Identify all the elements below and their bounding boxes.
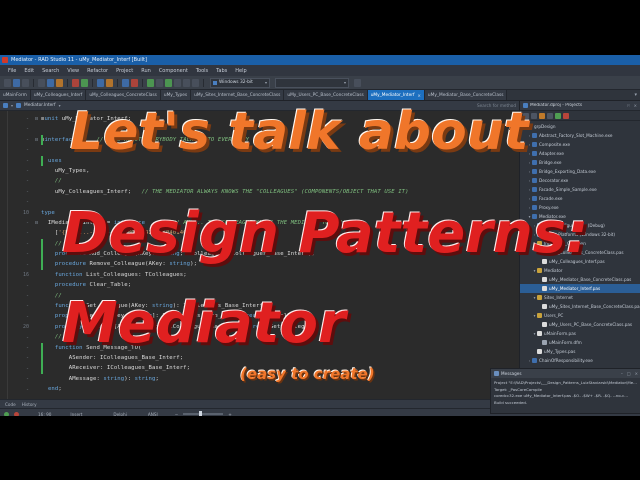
save-all-icon[interactable] (13, 79, 20, 87)
tree-node-label: uMy_Mediator_Base_ConcreteClass.pas (549, 277, 631, 282)
editor-tab-code[interactable]: Code (5, 402, 16, 407)
run-dropdown-icon[interactable] (156, 79, 163, 87)
projects-help-icon[interactable] (563, 113, 569, 119)
prj-icon (532, 178, 537, 183)
prj-icon (532, 358, 537, 363)
messages-panel: Messages – □ × Project "E:\RAD\Projects\… (490, 368, 640, 414)
projects-panel-title: Mediator.dproj - Projects (530, 103, 582, 108)
projects-toolbar (520, 111, 640, 121)
fold-marker[interactable] (32, 311, 41, 321)
tab-label: uMy_Colleagues_ConcreteClass (89, 93, 157, 98)
config-combo[interactable]: ▾ (275, 78, 349, 88)
prj-icon (532, 187, 537, 192)
projects-panel-buttons: ⚐ × (627, 103, 637, 108)
fold-marker[interactable] (32, 270, 41, 280)
tree-node[interactable]: ▾Users_PC (520, 311, 640, 320)
line-number: - (8, 260, 32, 270)
modified-line-marker (41, 135, 43, 145)
menu-bar: File Edit Search View Refactor Project R… (0, 65, 640, 76)
overlay-subtitle: (easy to create) (240, 367, 375, 382)
letterbox-top (0, 0, 640, 55)
line-number: - (8, 187, 32, 197)
modified-line-marker (41, 156, 43, 166)
tab-overflow-icon[interactable]: ▾ (631, 90, 640, 100)
close-icon-messages[interactable]: × (635, 371, 638, 376)
chevron-down-icon-2: ▾ (344, 80, 346, 85)
tree-node-label: uMy_Types.pas (544, 349, 575, 354)
line-number-gutter: ---------10-----16----20--------30- (8, 111, 32, 399)
stop-icon[interactable] (131, 79, 138, 87)
fold-marker[interactable] (32, 322, 41, 332)
tree-node[interactable]: uMy_Users_PC_Base_ConcreteClass.pas (520, 320, 640, 329)
tab-umy-types[interactable]: uMy_Types (161, 90, 191, 100)
close-all-icon[interactable] (72, 79, 79, 87)
line-number: - (8, 249, 32, 259)
menu-item-tools[interactable]: Tools (196, 68, 208, 74)
toolbar-separator-2 (67, 79, 68, 87)
fold-marker[interactable] (32, 197, 41, 207)
tree-node-label: Bridge.exe (539, 160, 561, 165)
tree-node-label: Adapter.exe (539, 151, 564, 156)
fld-icon (537, 295, 542, 300)
title-bar: Mediator - RAD Studio 11 - uMy_Mediator_… (0, 55, 640, 65)
line-number: - (8, 364, 32, 374)
code-line: procedure Clear_Table; (41, 280, 519, 290)
line-number: 20 (8, 322, 32, 332)
tree-node-label: uMy_Mediator_Interf.pas (549, 286, 600, 291)
editor-footer-tabs: Code History (0, 399, 519, 408)
code-line: end; (41, 384, 519, 394)
pas-icon (537, 349, 542, 354)
chevron-down-icon: ▾ (265, 80, 267, 85)
line-number: - (8, 197, 32, 207)
rad-studio-icon (2, 57, 8, 63)
tab-umy-colleagues-concreteclass[interactable]: uMy_Colleagues_ConcreteClass (86, 90, 161, 100)
line-number: - (8, 124, 32, 134)
letterbox-bottom (0, 416, 640, 480)
fold-marker[interactable] (32, 124, 41, 134)
menu-item-run[interactable]: Run (141, 68, 151, 74)
message-line: Build succeeded. (494, 400, 638, 407)
line-number: - (8, 176, 32, 186)
pas-icon (542, 304, 547, 309)
tab-umy-mediator-base-concreteclass[interactable]: uMy_Mediator_Base_ConcreteClass (425, 90, 508, 100)
activate-icon[interactable] (555, 113, 561, 119)
fld-icon (537, 313, 542, 318)
tree-node[interactable]: ›Bridge_Exporting_Data.exe (520, 167, 640, 176)
pas-icon (537, 331, 542, 336)
message-line: Project "E:\RAD\Projects\___Design_Patte… (494, 380, 638, 387)
editor-left-margin (0, 111, 8, 399)
tree-node-label: Decorator.exe (539, 178, 568, 183)
modified-line-marker (41, 239, 43, 270)
new-file-icon[interactable] (47, 79, 54, 87)
platform-icon (213, 81, 217, 85)
tree-node-label: Abstract_Factory_Slot_Machine.exe (539, 133, 612, 138)
fold-marker[interactable] (32, 187, 41, 197)
messages-panel-title: Messages (501, 371, 522, 376)
tab-label: uMy_Mediator_Interf (371, 93, 415, 98)
line-number: - (8, 312, 32, 322)
line-number: - (8, 228, 32, 238)
line-number: - (8, 135, 32, 145)
fold-marker[interactable] (32, 363, 41, 373)
menu-item-view[interactable]: View (67, 68, 79, 74)
tab-umy-mediator-interf[interactable]: uMy_Mediator_Interf × (368, 90, 425, 100)
line-number: - (8, 114, 32, 124)
fold-marker[interactable] (32, 395, 41, 399)
fld-icon (537, 268, 542, 273)
tree-node-label: uMy_Users_PC_Base_ConcreteClass.pas (549, 322, 632, 327)
tab-umy-users-pc[interactable]: uMy_Users_PC_Base_ConcreteClass (284, 90, 367, 100)
tree-node[interactable]: ›Abstract_Factory_Slot_Machine.exe (520, 131, 640, 140)
open-file-icon[interactable] (56, 79, 63, 87)
tree-node[interactable]: uMy_Mediator_Interf.pas (520, 284, 640, 293)
minimize-icon[interactable]: – (621, 371, 623, 376)
toolbar-separator-6 (203, 79, 204, 87)
overlay-title-line2: Design Patterns: (62, 206, 588, 262)
fold-marker[interactable] (32, 208, 41, 218)
undo-icon[interactable] (38, 79, 45, 87)
line-number: - (8, 395, 32, 399)
tree-node[interactable]: uMy_Mediator_Base_ConcreteClass.pas (520, 275, 640, 284)
tab-umainform[interactable]: uMainForm (0, 90, 31, 100)
fold-marker[interactable] (32, 239, 41, 249)
line-number: - (8, 385, 32, 395)
line-number: - (8, 218, 32, 228)
run-icon[interactable] (147, 79, 154, 87)
menu-item-search[interactable]: Search (42, 68, 59, 74)
line-number: - (8, 353, 32, 363)
message-line: coredcc32.exe uMy_Mediator_Interf.pas -$… (494, 393, 638, 400)
build-icon[interactable] (539, 113, 545, 119)
line-number: - (8, 145, 32, 155)
tree-node-label: Users_PC (544, 313, 563, 318)
line-number: - (8, 166, 32, 176)
fold-marker[interactable] (32, 301, 41, 311)
code-line: uMy_Colleagues_Interf; // THE MEDIATOR A… (41, 187, 519, 197)
remove-file-icon[interactable] (531, 113, 537, 119)
editor-tab-history[interactable]: History (22, 402, 37, 407)
overlay-title-line3: Mediator (62, 296, 346, 352)
line-number: - (8, 374, 32, 384)
fold-marker[interactable] (32, 176, 41, 186)
fold-marker[interactable] (32, 114, 41, 124)
tree-node[interactable]: ▾Mediator (520, 266, 640, 275)
code-line: // (41, 176, 519, 186)
fold-marker[interactable] (32, 145, 41, 155)
fold-marker[interactable] (32, 343, 41, 353)
tree-node-label: uMainForm.dfm (549, 340, 582, 345)
open-project-icon[interactable] (4, 79, 11, 87)
tree-node-label: uMy_Sites_Internet_Base_ConcreteClass.pa… (549, 304, 640, 309)
tree-node-label: ChainOfResponsibility.exe (539, 358, 593, 363)
chevron-down-icon-3[interactable]: ▾ (11, 103, 13, 108)
tab-umy-colleagues-interf[interactable]: uMy_Colleagues_Interf (31, 90, 87, 100)
toolbar-separator-3 (92, 79, 93, 87)
code-line: uMy_Types, (41, 166, 519, 176)
chevron-down-icon-4[interactable]: ▾ (59, 103, 61, 108)
main-toolbar: Windows 32-bit ▾ ▾ (0, 76, 640, 90)
menu-item-file[interactable]: File (8, 68, 16, 74)
run-without-debug-icon[interactable] (165, 79, 172, 87)
class-icon (16, 103, 21, 108)
tree-node[interactable]: ›Decorator.exe (520, 176, 640, 185)
view-unit-icon[interactable] (97, 79, 104, 87)
tree-node[interactable]: ›Composite.exe (520, 140, 640, 149)
fold-marker[interactable] (32, 249, 41, 259)
editor-tab-strip: uMainForm uMy_Colleagues_Interf uMy_Coll… (0, 90, 640, 101)
code-line: function List_Colleagues: TColleagues; (41, 270, 519, 280)
pas-icon (542, 277, 547, 282)
prj-icon (532, 142, 537, 147)
menu-item-help[interactable]: Help (235, 68, 246, 74)
pas-icon (542, 322, 547, 327)
tab-label: uMy_Mediator_Base_ConcreteClass (428, 93, 504, 98)
fold-marker[interactable] (32, 384, 41, 394)
line-number: - (8, 281, 32, 291)
menu-item-component[interactable]: Component (159, 68, 188, 74)
toolbar-separator-4 (117, 79, 118, 87)
fold-marker[interactable] (32, 259, 41, 269)
tree-node[interactable]: ›Facade_Simple_Sample.exe (520, 185, 640, 194)
maximize-icon[interactable]: □ (627, 371, 631, 376)
zoom-slider[interactable] (183, 413, 223, 415)
tree-node[interactable]: uMy_Types.pas (520, 347, 640, 356)
fold-marker[interactable] (32, 332, 41, 342)
fold-marker[interactable] (32, 166, 41, 176)
save-icon[interactable] (81, 79, 88, 87)
close-icon[interactable]: × (418, 93, 421, 98)
tree-node[interactable]: ▾Sites_Internet (520, 293, 640, 302)
tab-label: uMy_Sites_Internet_Base_ConcreteClass (194, 93, 280, 98)
prj-icon (532, 133, 537, 138)
pas-icon (542, 286, 547, 291)
line-number: - (8, 156, 32, 166)
messages-panel-header: Messages – □ × (491, 369, 640, 378)
toolbar-separator-5 (142, 79, 143, 87)
tree-node-label: Facade_Simple_Sample.exe (539, 187, 597, 192)
code-folding-column[interactable] (32, 111, 41, 399)
tree-node[interactable]: uMy_Sites_Internet_Base_ConcreteClass.pa… (520, 302, 640, 311)
platform-combo-value: Windows 32-bit (219, 80, 253, 85)
fold-marker[interactable] (32, 156, 41, 166)
dfm-icon (542, 340, 547, 345)
line-number: 16 (8, 270, 32, 280)
tab-label: uMainForm (3, 93, 27, 98)
tree-node-label: Bridge_Exporting_Data.exe (539, 169, 596, 174)
tab-label: uMy_Types (164, 93, 187, 98)
projects-panel-header: Mediator.dproj - Projects ⚐ × (520, 101, 640, 111)
fold-marker[interactable] (32, 353, 41, 363)
tree-node-label: grpDesign (534, 124, 556, 129)
menu-item-edit[interactable]: Edit (24, 68, 34, 74)
toggle-form-unit-icon[interactable] (122, 79, 129, 87)
fold-marker[interactable] (32, 291, 41, 301)
tree-node[interactable]: ›ChainOfResponsibility.exe (520, 356, 640, 365)
tree-node-label: Composite.exe (539, 142, 570, 147)
tab-label: uMy_Colleagues_Interf (34, 93, 83, 98)
tree-node[interactable]: ›Bridge.exe (520, 158, 640, 167)
messages-icon (494, 371, 499, 376)
line-number: - (8, 291, 32, 301)
prj-icon (532, 160, 537, 165)
tab-label: uMy_Users_PC_Base_ConcreteClass (287, 93, 363, 98)
fold-marker[interactable] (32, 228, 41, 238)
tree-node-label: uMainForm.pas (544, 331, 576, 336)
window-title: Mediator - RAD Studio 11 - uMy_Mediator_… (11, 57, 147, 63)
overlay-title-line1: Let's talk about (70, 106, 529, 158)
line-number: - (8, 333, 32, 343)
fold-marker[interactable] (32, 218, 41, 228)
tree-node[interactable]: ▾grpDesign (520, 122, 640, 131)
pause-icon[interactable] (174, 79, 181, 87)
fold-marker[interactable] (32, 374, 41, 384)
fold-marker[interactable] (32, 280, 41, 290)
modified-line-marker (41, 343, 43, 374)
prj-icon (532, 169, 537, 174)
pin-icon[interactable]: ⚐ (627, 103, 631, 108)
close-icon-panel[interactable]: × (634, 103, 637, 108)
menu-item-project[interactable]: Project (116, 68, 133, 74)
screenshot-root: Mediator - RAD Studio 11 - uMy_Mediator_… (0, 0, 640, 480)
platform-combo[interactable]: Windows 32-bit ▾ (210, 78, 270, 88)
tree-node[interactable]: ›Adapter.exe (520, 149, 640, 158)
editor-unit-name: Mediator.Interf (24, 103, 56, 108)
tree-node-label: Sites_Internet (544, 295, 573, 300)
step-over-icon[interactable] (183, 79, 190, 87)
messages-panel-buttons: – □ × (621, 371, 638, 376)
tree-node-label: Mediator (544, 268, 563, 273)
trace-into-icon[interactable] (192, 79, 199, 87)
menu-item-tabs[interactable]: Tabs (216, 68, 227, 74)
code-line (41, 395, 519, 399)
toolbar-separator (33, 79, 34, 87)
menu-item-refactor[interactable]: Refactor (87, 68, 108, 74)
tree-node[interactable]: ▾uMainForm.pas (520, 329, 640, 338)
unit-icon (3, 103, 8, 108)
tree-node[interactable]: uMainForm.dfm (520, 338, 640, 347)
toolbar-overflow-icon[interactable] (354, 79, 361, 87)
view-source-icon[interactable] (547, 113, 553, 119)
line-number: 10 (8, 208, 32, 218)
search-icon[interactable] (22, 79, 29, 87)
fold-marker[interactable] (32, 135, 41, 145)
line-number: - (8, 301, 32, 311)
tab-umy-sites-internet[interactable]: uMy_Sites_Internet_Base_ConcreteClass (191, 90, 284, 100)
messages-list[interactable]: Project "E:\RAD\Projects\___Design_Patte… (491, 378, 640, 408)
view-form-icon[interactable] (106, 79, 113, 87)
prj-icon (532, 151, 537, 156)
line-number: - (8, 343, 32, 353)
line-number: - (8, 239, 32, 249)
